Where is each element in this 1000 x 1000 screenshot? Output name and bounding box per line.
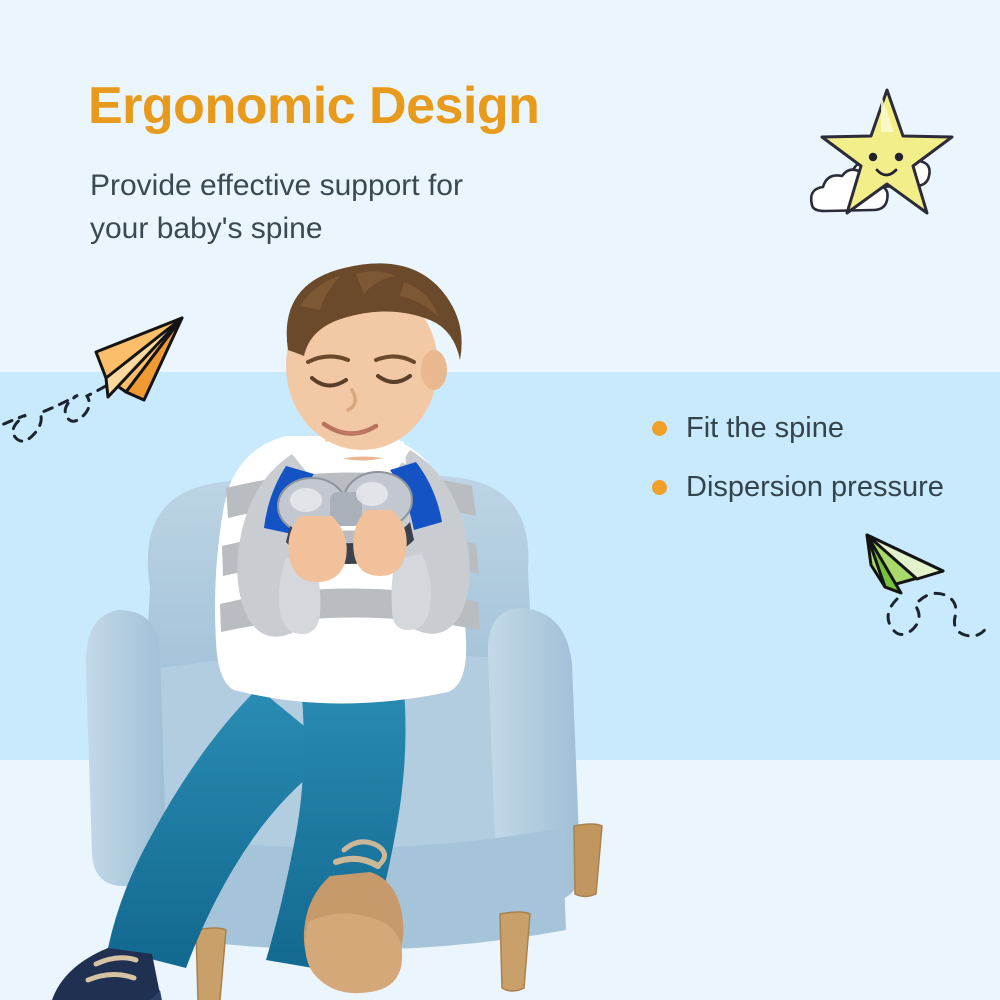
child-ear	[421, 350, 447, 390]
star-cloud-doodle	[795, 62, 980, 232]
child-hand-left	[288, 516, 346, 582]
star-eye-right-icon	[895, 153, 903, 161]
child-sitting-in-armchair	[0, 258, 700, 968]
paper-plane-icon	[867, 535, 943, 593]
child-hand-right	[353, 510, 407, 576]
dashed-trail-icon	[888, 593, 987, 636]
chair-leg-back-right	[574, 824, 602, 897]
feature-label: Fit the spine	[686, 412, 844, 445]
marketing-banner: Ergonomic Design Provide effective suppo…	[0, 0, 1000, 1000]
chair-leg-front-left	[196, 928, 226, 1000]
page-subtitle: Provide effective support for your baby'…	[90, 165, 463, 250]
feature-label: Dispersion pressure	[686, 471, 944, 504]
star-eye-left-icon	[869, 153, 877, 161]
page-title: Ergonomic Design	[88, 76, 539, 136]
green-paper-plane-doodle	[845, 515, 1000, 650]
